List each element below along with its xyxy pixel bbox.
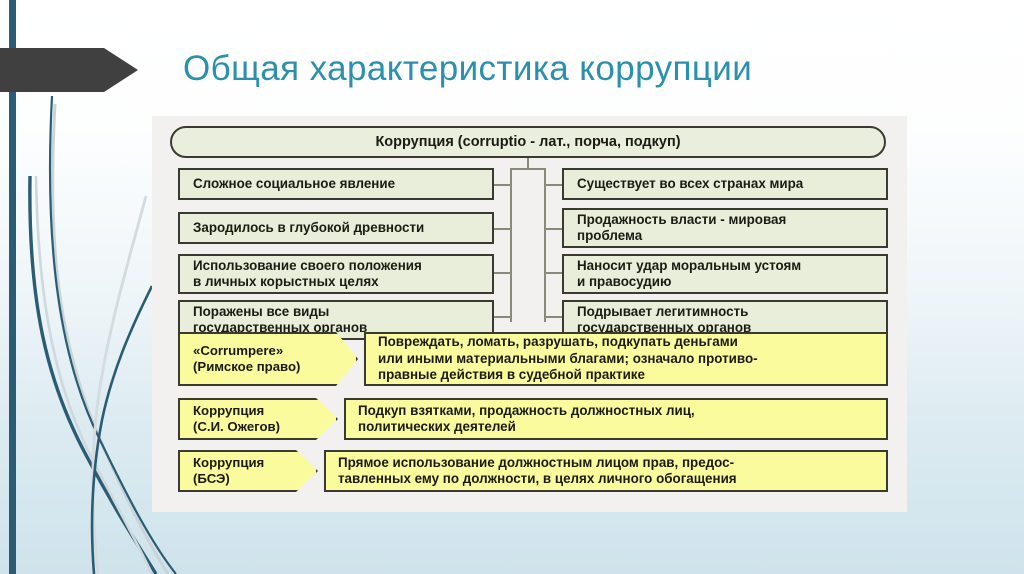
definition-source-label: Коррупция(С.И. Ожегов) [193, 403, 336, 435]
definition-source-bse: Коррупция(БСЭ) [178, 450, 318, 492]
definition-source-label: «Corrumpere»(Римское право) [193, 343, 356, 375]
connector-branch-left-2 [492, 228, 512, 230]
definition-body-label: Повреждать, ломать, разрушать, подкупать… [378, 334, 878, 384]
trait-label: Продажность власти - мироваяпроблема [577, 212, 786, 245]
page-title: Общая характеристика коррупции [183, 44, 752, 94]
diagram-header-box: Коррупция (corruptio - лат., порча, подк… [170, 126, 886, 158]
trait-label: Сложное социальное явление [193, 176, 395, 193]
connector-trunk-right [544, 168, 546, 322]
definition-source-label: Коррупция(БСЭ) [193, 455, 316, 487]
definition-text-bse: Прямое использование должностным лицом п… [324, 450, 888, 492]
trait-box-left-3: Использование своего положенияв личных к… [178, 254, 494, 294]
trait-label: Поражены все видыгосударственных органов [193, 304, 367, 337]
trait-label: Использование своего положенияв личных к… [193, 258, 422, 291]
definition-text-ozhegov: Подкуп взятками, продажность должностных… [344, 398, 888, 440]
definition-body-label: Прямое использование должностным лицом п… [338, 455, 878, 488]
connector-branch-left-1 [492, 184, 512, 186]
diagram-panel: Коррупция (corruptio - лат., порча, подк… [152, 116, 907, 512]
definition-source-corrumpere: «Corrumpere»(Римское право) [178, 332, 358, 386]
connector-cap [510, 168, 546, 170]
connector-branch-left-4 [492, 316, 512, 318]
trait-box-right-1: Существует во всех странах мира [562, 168, 888, 200]
connector-branch-left-3 [492, 272, 512, 274]
connector-stem-center [527, 158, 529, 168]
diagram-header-label: Коррупция (corruptio - лат., порча, подк… [375, 134, 680, 150]
definition-body-label: Подкуп взятками, продажность должностных… [358, 403, 878, 436]
trait-label: Наносит удар моральным устоями правосуди… [577, 258, 801, 291]
trait-label: Зародилось в глубокой древности [193, 220, 424, 237]
connector-trunk-left [510, 168, 512, 322]
presentation-slide: Общая характеристика коррупции Коррупция… [0, 0, 1024, 574]
trait-box-left-1: Сложное социальное явление [178, 168, 494, 200]
definition-source-ozhegov: Коррупция(С.И. Ожегов) [178, 398, 338, 440]
title-banner-arrow [0, 48, 138, 92]
trait-box-left-2: Зародилось в глубокой древности [178, 212, 494, 244]
trait-label: Существует во всех странах мира [577, 176, 803, 193]
trait-box-right-2: Продажность власти - мироваяпроблема [562, 208, 888, 248]
trait-box-right-3: Наносит удар моральным устоями правосуди… [562, 254, 888, 294]
definition-text-corrumpere: Повреждать, ломать, разрушать, подкупать… [364, 332, 888, 386]
